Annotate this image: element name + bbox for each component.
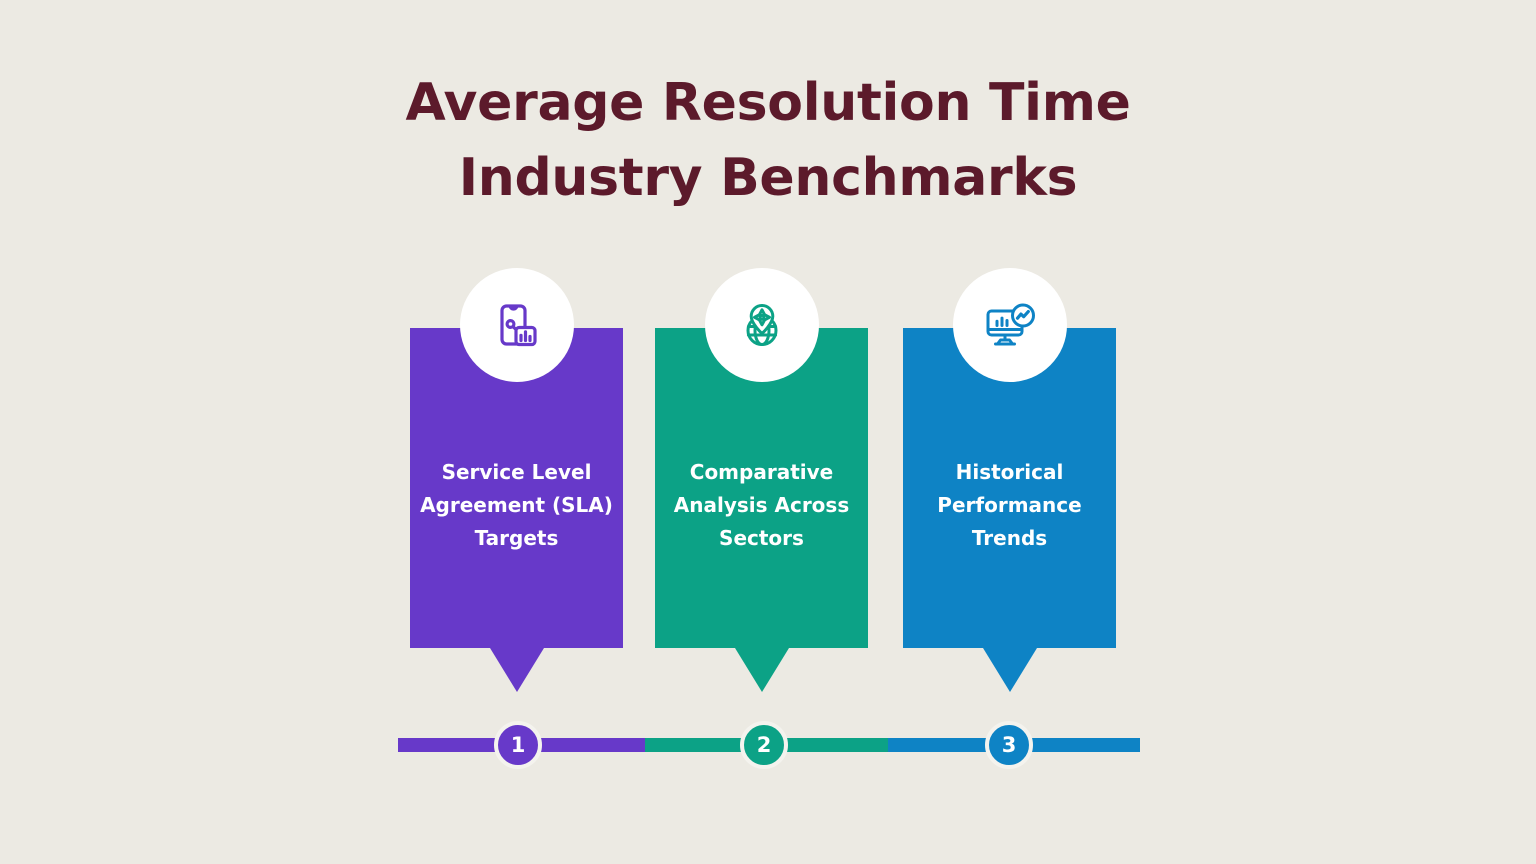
step-card-3-pointer <box>983 648 1037 692</box>
step-card-3-icon-badge <box>953 268 1067 382</box>
infographic-root: Average Resolution Time Industry Benchma… <box>0 0 1536 864</box>
globe-location-pin-icon <box>734 297 790 353</box>
timeline-node-2[interactable]: 2 <box>740 721 788 769</box>
step-card-1-pointer <box>490 648 544 692</box>
card-group: Service Level Agreement (SLA) Targets <box>410 328 1116 694</box>
timeline-node-1[interactable]: 1 <box>494 721 542 769</box>
step-card-2[interactable]: Comparative Analysis Across Sectors <box>655 328 868 648</box>
mobile-bar-chart-icon <box>489 297 545 353</box>
timeline-node-3[interactable]: 3 <box>985 721 1033 769</box>
step-card-1-label: Service Level Agreement (SLA) Targets <box>410 456 623 555</box>
monitor-analytics-trend-icon <box>982 297 1038 353</box>
step-card-3-label: Historical Performance Trends <box>903 456 1116 555</box>
step-card-1-icon-badge <box>460 268 574 382</box>
step-card-3[interactable]: Historical Performance Trends <box>903 328 1116 648</box>
step-card-1[interactable]: Service Level Agreement (SLA) Targets <box>410 328 623 648</box>
step-card-2-pointer <box>735 648 789 692</box>
step-card-2-icon-badge <box>705 268 819 382</box>
step-card-2-label: Comparative Analysis Across Sectors <box>655 456 868 555</box>
page-title: Average Resolution Time Industry Benchma… <box>0 66 1536 217</box>
step-timeline: 1 2 3 <box>398 738 1140 752</box>
